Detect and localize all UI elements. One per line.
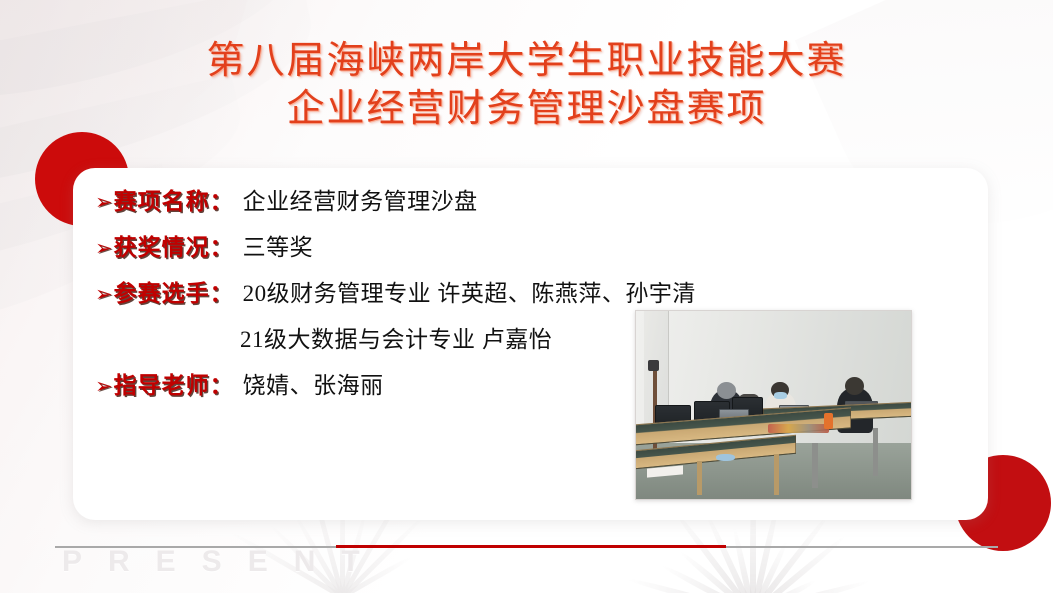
info-label: 指导老师： <box>114 366 234 406</box>
photo-loose-mask <box>716 454 735 462</box>
info-label: 参赛选手： <box>114 274 234 314</box>
competition-photo <box>635 310 912 500</box>
plant-frond <box>340 512 367 593</box>
arrow-bullet-icon: ➢ <box>95 274 113 314</box>
info-value: 企业经营财务管理沙盘 <box>243 182 478 222</box>
info-value-secondary: 21级大数据与会计专业 卢嘉怡 <box>95 320 552 360</box>
info-value: 饶婧、张海丽 <box>243 366 384 406</box>
photo-pole-fixture <box>648 360 659 371</box>
plant-frond <box>661 563 755 593</box>
photo-desk-leg-2 <box>774 454 780 495</box>
plant-frond <box>341 555 412 593</box>
info-label: 赛项名称： <box>114 182 234 222</box>
plant-frond <box>731 527 756 593</box>
plant-frond <box>751 512 832 593</box>
info-list: ➢ 赛项名称： 企业经营财务管理沙盘 ➢ 获奖情况： 三等奖 ➢ 参赛选手： 2… <box>95 182 655 412</box>
page-title: 第八届海峡两岸大学生职业技能大赛 企业经营财务管理沙盘赛项 <box>0 38 1053 134</box>
background-watermark-text: PRESENT <box>62 545 386 579</box>
plant-frond <box>750 540 789 593</box>
plant-frond <box>268 523 344 593</box>
plant-frond <box>293 514 345 593</box>
info-row-advisors: ➢ 指导老师： 饶婧、张海丽 <box>95 366 655 406</box>
photo-desk-leg-1 <box>697 461 703 495</box>
info-value: 三等奖 <box>243 228 314 268</box>
info-row-award: ➢ 获奖情况： 三等奖 <box>95 228 655 268</box>
background-swoosh-1 <box>0 0 319 113</box>
info-value: 20级财务管理专业 许英超、陈燕萍、孙宇清 <box>243 274 696 314</box>
info-row-participants-second-line: 21级大数据与会计专业 卢嘉怡 <box>95 320 655 360</box>
info-label: 获奖情况： <box>114 228 234 268</box>
arrow-bullet-icon: ➢ <box>95 228 113 268</box>
title-line-2: 企业经营财务管理沙盘赛项 <box>0 86 1053 134</box>
photo-bottle <box>824 413 833 430</box>
background-swoosh-5 <box>0 0 266 157</box>
photo-desk-items <box>768 424 829 433</box>
photo-person-3-head <box>845 377 864 395</box>
arrow-bullet-icon: ➢ <box>95 182 113 222</box>
info-row-participants: ➢ 参赛选手： 20级财务管理专业 许英超、陈燕萍、孙宇清 <box>95 274 655 314</box>
plant-frond <box>672 509 756 593</box>
plant-frond <box>678 550 755 593</box>
photo-desk-leg-3 <box>812 443 818 488</box>
plant-frond <box>341 514 426 593</box>
plant-frond <box>752 579 870 593</box>
plant-frond <box>704 513 756 593</box>
footer-divider-accent <box>336 545 726 548</box>
slide-root: PRESENT 第八届海峡两岸大学生职业技能大赛 企业经营财务管理沙盘赛项 ➢ … <box>0 0 1053 593</box>
content-card: ➢ 赛项名称： 企业经营财务管理沙盘 ➢ 获奖情况： 三等奖 ➢ 参赛选手： 2… <box>73 168 988 520</box>
photo-desk-leg-4 <box>873 428 879 477</box>
plant-frond <box>627 576 754 593</box>
plant-frond <box>752 578 817 593</box>
photo-person-2-mask-icon <box>774 392 788 400</box>
plant-frond <box>229 530 344 593</box>
plant-frond <box>751 533 847 593</box>
info-row-project-name: ➢ 赛项名称： 企业经营财务管理沙盘 <box>95 182 655 222</box>
arrow-bullet-icon: ➢ <box>95 366 113 406</box>
title-line-1: 第八届海峡两岸大学生职业技能大赛 <box>0 38 1053 86</box>
